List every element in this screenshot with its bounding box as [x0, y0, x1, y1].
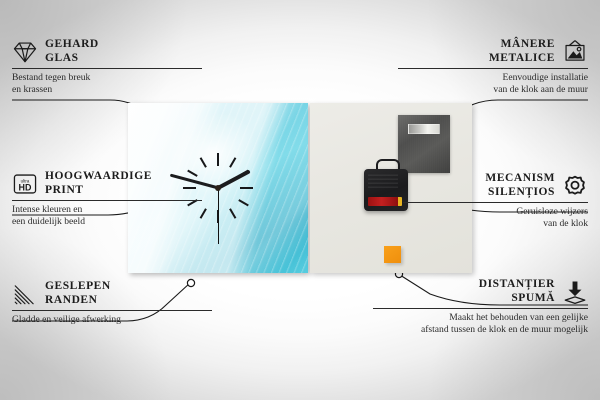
hd-label: HD — [19, 182, 32, 192]
feature-geslepen-randen: GESLEPEN RANDEN Gladde en veilige afwerk… — [12, 280, 212, 326]
feature-title: MÂNERE METALICE — [489, 38, 555, 65]
ultra-hd-badge-icon: ultra HD — [12, 171, 38, 197]
feature-title-line1: GEHARD — [45, 38, 99, 52]
clock-movement-box — [364, 169, 408, 211]
feature-subtitle-line2: een duidelijk beeld — [12, 216, 202, 228]
gear-icon — [562, 173, 588, 199]
feature-subtitle: Maakt het behouden van een gelijke afsta… — [373, 312, 588, 335]
feature-title-line1: GESLEPEN — [45, 280, 111, 294]
feature-divider — [373, 308, 588, 309]
feature-hoogwaardige-print: ultra HD HOOGWAARDIGE PRINT Intense kleu… — [12, 170, 202, 227]
feature-subtitle: Bestand tegen breuk en krassen — [12, 72, 202, 95]
battery — [368, 197, 402, 206]
feature-subtitle-line2: afstand tussen de klok en de muur mogeli… — [373, 324, 588, 336]
feature-header: ultra HD HOOGWAARDIGE PRINT — [12, 170, 202, 197]
metal-hanger-swatch — [398, 115, 450, 173]
hanging-frame-icon — [562, 39, 588, 65]
feature-header: GESLEPEN RANDEN — [12, 280, 212, 307]
foam-spacer — [384, 246, 401, 263]
feature-gehard-glas: GEHARD GLAS Bestand tegen breuk en krass… — [12, 38, 202, 95]
feature-header: MECANISM SILENȚIOS — [403, 172, 588, 199]
feature-title-line2: SPUMĂ — [479, 292, 555, 306]
feature-subtitle: Geruisloze wijzers van de klok — [403, 206, 588, 229]
feature-title: MECANISM SILENȚIOS — [485, 172, 555, 199]
feature-subtitle-line1: Maakt het behouden van een gelijke — [373, 312, 588, 324]
feature-title-line2: RANDEN — [45, 294, 111, 308]
infographic-canvas: GEHARD GLAS Bestand tegen breuk en krass… — [0, 0, 600, 400]
beveled-edge-lines-icon — [12, 281, 38, 307]
feature-subtitle: Eenvoudige installatie van de klok aan d… — [398, 72, 588, 95]
feature-divider — [12, 310, 212, 311]
feature-divider — [403, 202, 588, 203]
feature-divider — [12, 68, 202, 69]
feature-title-line2: GLAS — [45, 52, 99, 66]
feature-title: HOOGWAARDIGE PRINT — [45, 170, 152, 197]
feature-title-line1: MÂNERE — [489, 38, 555, 52]
feature-title-line1: DISTANȚIER — [479, 278, 555, 292]
feature-divider — [398, 68, 588, 69]
feature-mecanism-silentios: MECANISM SILENȚIOS Geruisloze wijzers va… — [403, 172, 588, 229]
feature-title: DISTANȚIER SPUMĂ — [479, 278, 555, 305]
diamond-icon — [12, 39, 38, 65]
feature-title: GESLEPEN RANDEN — [45, 280, 111, 307]
feature-subtitle-line2: van de klok aan de muur — [398, 84, 588, 96]
feature-subtitle-line2: van de klok — [403, 218, 588, 230]
feature-subtitle-line1: Geruisloze wijzers — [403, 206, 588, 218]
metal-hanger-strip — [408, 124, 440, 134]
spacer-arrow-icon — [562, 279, 588, 305]
feature-title-line2: PRINT — [45, 184, 152, 198]
feature-header: MÂNERE METALICE — [398, 38, 588, 65]
feature-title-line2: METALICE — [489, 52, 555, 66]
feature-title-line1: HOOGWAARDIGE — [45, 170, 152, 184]
feature-subtitle-line1: Intense kleuren en — [12, 204, 202, 216]
feature-header: DISTANȚIER SPUMĂ — [373, 278, 588, 305]
feature-subtitle-line1: Gladde en veilige afwerking — [12, 314, 212, 326]
feature-subtitle: Intense kleuren en een duidelijk beeld — [12, 204, 202, 227]
feature-subtitle-line2: en krassen — [12, 84, 202, 96]
feature-distantier-spuma: DISTANȚIER SPUMĂ Maakt het behouden van … — [373, 278, 588, 335]
feature-title-line1: MECANISM — [485, 172, 555, 186]
feature-title: GEHARD GLAS — [45, 38, 99, 65]
feature-subtitle: Gladde en veilige afwerking — [12, 314, 212, 326]
feature-manere-metalice: MÂNERE METALICE Eenvoudige installatie v… — [398, 38, 588, 95]
feature-subtitle-line1: Bestand tegen breuk — [12, 72, 202, 84]
clock-center-hub — [215, 185, 221, 191]
movement-label — [368, 174, 398, 188]
feature-divider — [12, 200, 202, 201]
feature-title-line2: SILENȚIOS — [485, 186, 555, 200]
feature-subtitle-line1: Eenvoudige installatie — [398, 72, 588, 84]
feature-header: GEHARD GLAS — [12, 38, 202, 65]
clock-second-hand — [218, 188, 219, 244]
